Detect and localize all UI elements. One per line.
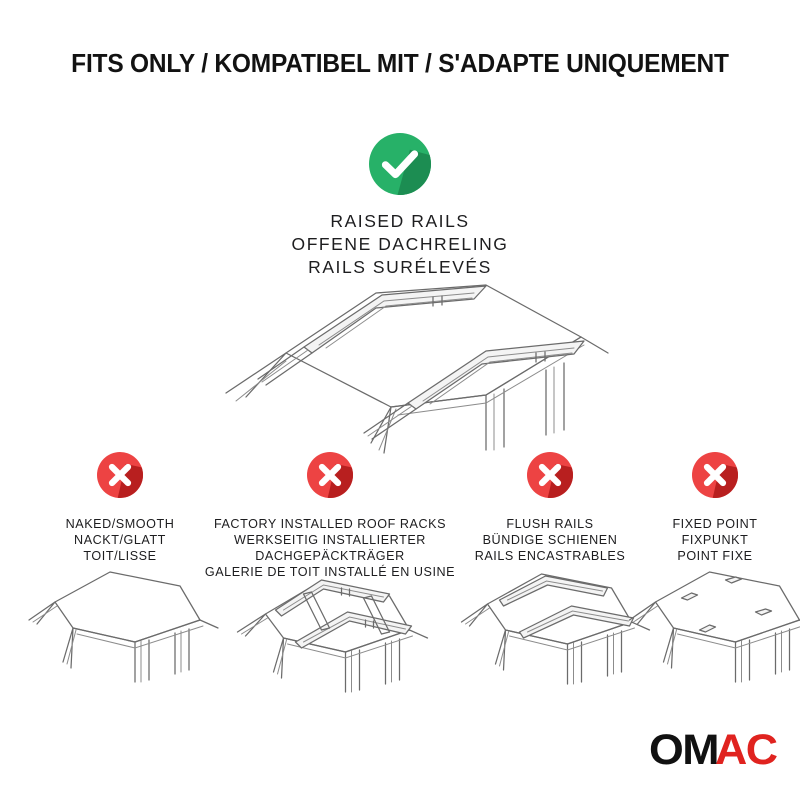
x-glyph [97,452,143,498]
compatible-label-en: RAISED RAILS [0,210,800,233]
compatible-labels: RAISED RAILS OFFENE DACHRELING RAILS SUR… [0,210,800,279]
logo-text-red: AC [715,729,776,772]
label-de: NACKT/GLATT [10,532,230,548]
incompatible-item-fixed-point: FIXED POINT FIXPUNKT POINT FIXE [630,452,800,564]
omac-logo: OM AC [649,729,774,772]
compatible-section: RAISED RAILS OFFENE DACHRELING RAILS SUR… [0,133,800,279]
label-de: FIXPUNKT [630,532,800,548]
red-x-circle-icon [692,452,738,498]
label-en: NAKED/SMOOTH [10,516,230,532]
incompatible-item-factory-roof-racks: FACTORY INSTALLED ROOF RACKS WERKSEITIG … [200,452,460,580]
label-de: BÜNDIGE SCHIENEN [450,532,650,548]
fitment-infographic: FITS ONLY / KOMPATIBEL MIT / S'ADAPTE UN… [0,0,800,800]
green-check-circle-icon [369,133,431,195]
car-roof-factory-installed-roof-racks-illustration [218,552,443,712]
check-glyph [369,133,431,195]
header: FITS ONLY / KOMPATIBEL MIT / S'ADAPTE UN… [0,50,800,79]
car-roof-with-raised-rails-illustration [186,275,616,465]
label-en: FACTORY INSTALLED ROOF RACKS [200,516,460,532]
label-en: FLUSH RAILS [450,516,650,532]
red-x-circle-icon [527,452,573,498]
label-en: FIXED POINT [630,516,800,532]
page-title: FITS ONLY / KOMPATIBEL MIT / S'ADAPTE UN… [16,50,784,79]
x-glyph [307,452,353,498]
incompatible-item-naked-smooth: NAKED/SMOOTH NACKT/GLATT TOIT/LISSE [10,452,230,564]
x-glyph [527,452,573,498]
incompatible-item-flush-rails: FLUSH RAILS BÜNDIGE SCHIENEN RAILS ENCAS… [450,452,650,564]
x-glyph [692,452,738,498]
red-x-circle-icon [307,452,353,498]
label-de-1: WERKSEITIG INSTALLIERTER [200,532,460,548]
car-roof-naked-smooth-illustration [15,558,225,708]
red-x-circle-icon [97,452,143,498]
logo-text-dark: OM [649,729,718,772]
car-roof-fixed-point-illustration [618,552,800,707]
compatible-label-de: OFFENE DACHRELING [0,233,800,256]
